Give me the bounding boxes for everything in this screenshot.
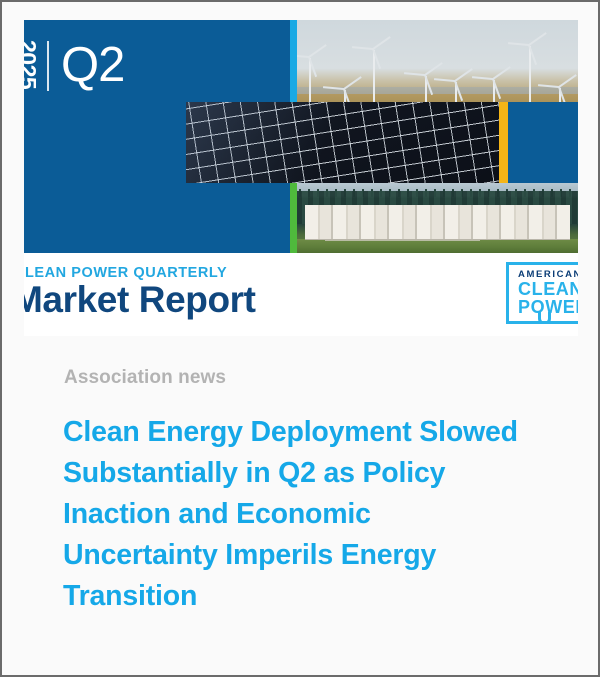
- cover-date-lockup: 2025 Q2: [24, 40, 124, 91]
- article-headline[interactable]: Clean Energy Deployment Slowed Substanti…: [63, 412, 533, 617]
- accent-bar-gold: [499, 102, 508, 183]
- battery-containers: [305, 205, 569, 239]
- solar-panel-photo: [186, 102, 499, 183]
- cover-quarter: Q2: [61, 41, 124, 90]
- accent-bar-green: [290, 183, 297, 253]
- category-eyebrow: Association news: [64, 367, 226, 389]
- news-card[interactable]: 2025 Q2 CLEAN POWER QUARTERLY Market Rep…: [2, 2, 600, 675]
- cover-artwork: 2025 Q2: [24, 20, 578, 253]
- logo-line-power: POWER: [518, 298, 578, 316]
- logo-line-clean: CLEAN: [518, 280, 578, 298]
- solar-glare: [186, 102, 499, 183]
- cover-divider: [47, 41, 49, 91]
- cover-year: 2025: [24, 40, 37, 91]
- page-frame: 2025 Q2 CLEAN POWER QUARTERLY Market Rep…: [0, 0, 600, 677]
- american-clean-power-logo: AMERICAN CLEAN POWER: [506, 262, 578, 324]
- report-cover-image[interactable]: 2025 Q2 CLEAN POWER QUARTERLY Market Rep…: [24, 20, 578, 336]
- wind-turbine-icon: [529, 46, 531, 110]
- cover-blue-panel-right: [508, 102, 578, 183]
- battery-storage-photo: [297, 183, 578, 253]
- power-plug-icon: [538, 312, 551, 324]
- cover-report-title: Market Report: [24, 281, 256, 320]
- cover-title-band: CLEAN POWER QUARTERLY Market Report AMER…: [24, 253, 578, 336]
- card-body: Association news Clean Energy Deployment…: [2, 336, 600, 675]
